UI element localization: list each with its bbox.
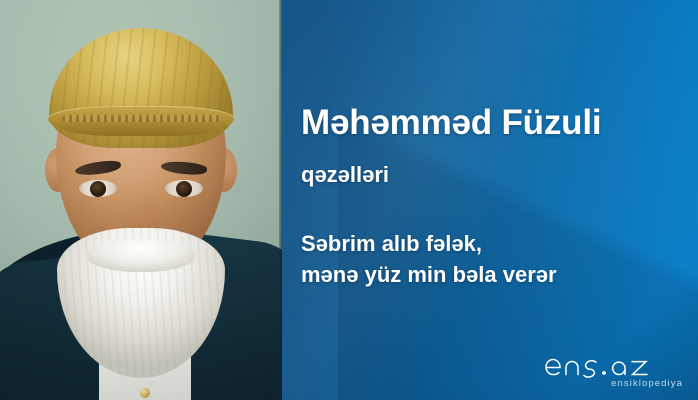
verse-line-2: mənə yüz min bəla verər	[301, 259, 557, 290]
logo-tagline: ensiklopediya	[611, 378, 683, 389]
portrait-edge-divider	[279, 0, 282, 400]
mustache	[87, 238, 195, 272]
eye-right	[165, 180, 203, 197]
portrait-figure	[0, 0, 282, 400]
logo-wordmark-shape	[546, 360, 647, 378]
quote-card: Məhəmməd Füzuli qəzəlləri Səbrim alıb fə…	[0, 0, 698, 400]
eye-left	[79, 180, 117, 197]
verse-line-1: Səbrim alıb fələk,	[301, 228, 557, 259]
ens-az-logo[interactable]: ensiklopediya	[542, 349, 684, 391]
iris-left	[90, 181, 106, 197]
poet-subtitle: qəzəlləri	[301, 163, 389, 187]
text-column: Məhəmməd Füzuli qəzəlləri Səbrim alıb fə…	[301, 0, 681, 400]
skullcap-band	[48, 106, 234, 136]
shirt-button	[140, 388, 150, 398]
iris-right	[176, 181, 192, 197]
poet-name: Məhəmməd Füzuli	[301, 105, 601, 142]
verse-block: Səbrim alıb fələk, mənə yüz min bəla ver…	[301, 228, 557, 290]
portrait-panel	[0, 0, 282, 400]
